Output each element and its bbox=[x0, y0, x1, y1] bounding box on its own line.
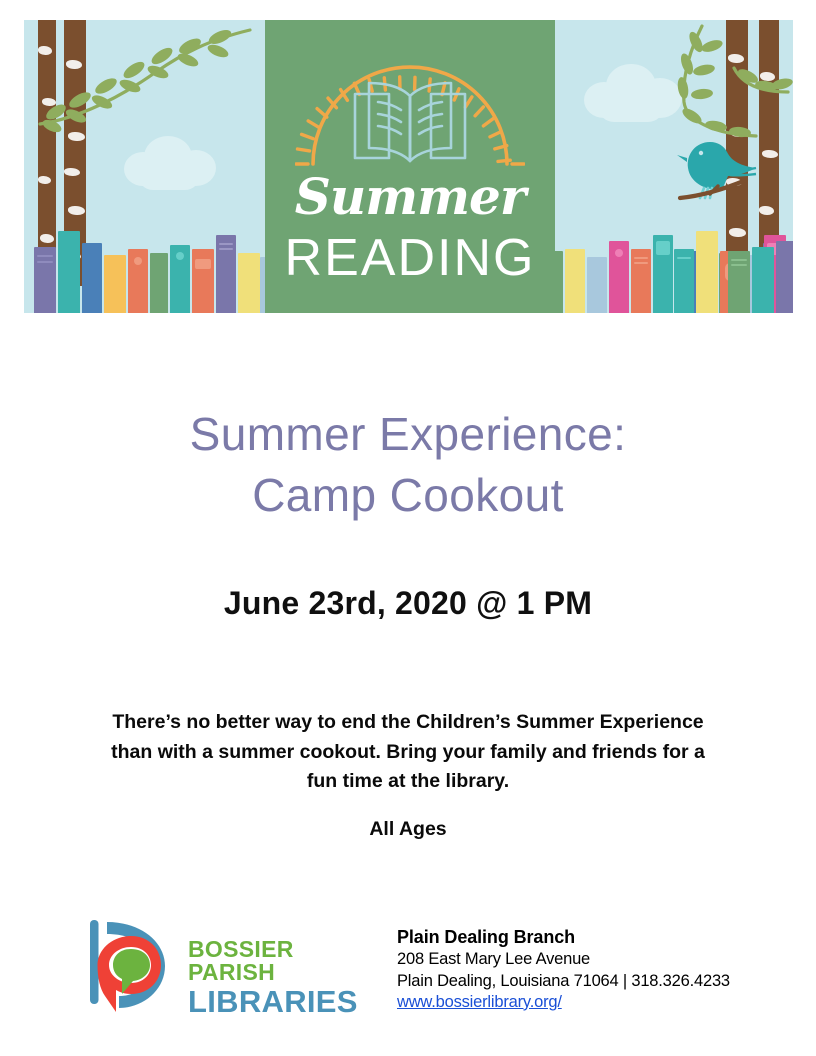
bird-icon bbox=[660, 128, 770, 210]
title-line-2: Camp Cookout bbox=[0, 465, 816, 526]
summer-reading-banner: Summer READING bbox=[24, 20, 793, 313]
library-logo: BOSSIER PARISH LIBRARIES bbox=[85, 916, 370, 1016]
audience-label: All Ages bbox=[0, 818, 816, 841]
event-datetime: June 23rd, 2020 @ 1 PM bbox=[0, 585, 816, 622]
green-center-panel: Summer READING bbox=[265, 20, 555, 313]
bookshelf-icon bbox=[724, 227, 793, 313]
branch-address-block: Plain Dealing Branch 208 East Mary Lee A… bbox=[397, 926, 757, 1013]
website-link[interactable]: www.bossierlibrary.org/ bbox=[397, 992, 562, 1013]
banner-block-word: READING bbox=[265, 232, 555, 284]
cloud-icon bbox=[124, 132, 224, 194]
bookshelf-icon bbox=[24, 227, 269, 313]
footer: BOSSIER PARISH LIBRARIES Plain Dealing B… bbox=[0, 908, 816, 1028]
leaf-vine-icon bbox=[30, 26, 260, 146]
event-description: There’s no better way to end the Childre… bbox=[108, 708, 708, 797]
open-book-icon bbox=[351, 76, 469, 168]
logo-line-1: BOSSIER PARISH bbox=[188, 938, 370, 984]
branch-name: Plain Dealing Branch bbox=[397, 926, 757, 949]
address-line-2: Plain Dealing, Louisiana 71064 | 318.326… bbox=[397, 971, 757, 992]
page-title: Summer Experience: Camp Cookout bbox=[0, 404, 816, 525]
title-line-1: Summer Experience: bbox=[0, 404, 816, 465]
address-line-1: 208 East Mary Lee Avenue bbox=[397, 949, 757, 970]
bossier-parish-libraries-logo-icon bbox=[85, 916, 185, 1016]
logo-line-2: LIBRARIES bbox=[188, 986, 370, 1017]
banner-script-word: Summer bbox=[265, 172, 555, 222]
logo-wordmark: BOSSIER PARISH LIBRARIES bbox=[188, 938, 370, 1017]
